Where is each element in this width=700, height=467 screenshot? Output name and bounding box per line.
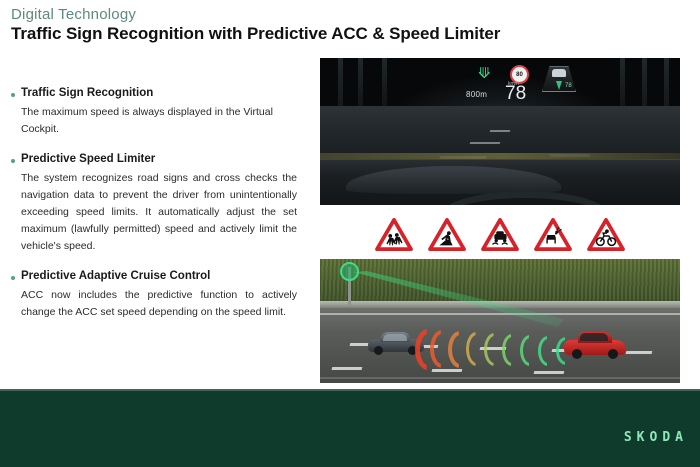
section-body: The system recognizes road signs and cro… xyxy=(21,170,297,255)
bullet-point-icon xyxy=(11,159,15,163)
navigation-arrow-icon: ⟱ xyxy=(478,66,486,84)
section-heading-row: Predictive Speed Limiter xyxy=(11,152,297,167)
slide: Digital Technology Traffic Sign Recognit… xyxy=(0,0,700,467)
slide-eyebrow: Digital Technology xyxy=(11,6,136,23)
acc-set-speed: 78 xyxy=(565,83,572,89)
acc-follow-distance-icon: 78 xyxy=(542,66,576,92)
head-up-display-photo: ⟱ 800m 80 km/h 78 78 xyxy=(320,58,680,205)
section-heading-row: Traffic Sign Recognition xyxy=(11,86,297,101)
hud-projection: ⟱ 800m 80 km/h 78 78 xyxy=(470,64,580,108)
bullet-point-icon xyxy=(11,276,15,280)
content-text-column: Traffic Sign Recognition The maximum spe… xyxy=(11,86,297,335)
section-heading: Predictive Speed Limiter xyxy=(21,152,155,167)
section-body: The maximum speed is always displayed in… xyxy=(21,104,297,138)
slide-footer: SKODA xyxy=(0,389,700,467)
bullet-point-icon xyxy=(11,93,15,97)
section-heading-row: Predictive Adaptive Cruise Control xyxy=(11,269,297,284)
section-heading: Predictive Adaptive Cruise Control xyxy=(21,269,210,284)
section-predictive-adaptive-cruise-control: Predictive Adaptive Cruise Control ACC n… xyxy=(11,269,297,321)
slippery-road-sign xyxy=(481,218,519,252)
section-predictive-speed-limiter: Predictive Speed Limiter The system reco… xyxy=(11,152,297,255)
footer-divider xyxy=(0,389,700,391)
section-heading: Traffic Sign Recognition xyxy=(21,86,153,101)
ego-vehicle-red-skoda xyxy=(564,331,626,359)
cyclists-sign xyxy=(587,218,625,252)
media-column: ⟱ 800m 80 km/h 78 78 xyxy=(320,58,680,205)
page-title: Traffic Sign Recognition with Predictive… xyxy=(11,24,500,44)
wild-animals-sign xyxy=(534,218,572,252)
detected-speed-limit-sign xyxy=(340,262,359,281)
roadworks-sign xyxy=(428,218,466,252)
hud-current-speed: 78 xyxy=(505,84,526,103)
acc-lead-car-icon xyxy=(552,69,566,77)
children-crossing-sign xyxy=(375,218,413,252)
roadside-embankment xyxy=(320,259,680,307)
hud-distance-unit: m xyxy=(480,90,487,99)
predictive-acc-scene-photo xyxy=(320,259,680,383)
section-traffic-sign-recognition: Traffic Sign Recognition The maximum spe… xyxy=(11,86,297,138)
hud-distance-value: 800m xyxy=(466,90,487,99)
section-body: ACC now includes the predictive function… xyxy=(21,287,297,321)
warning-signs-row xyxy=(375,215,625,255)
hud-distance-number: 800 xyxy=(466,90,480,99)
skoda-logo: SKODA xyxy=(624,430,688,445)
